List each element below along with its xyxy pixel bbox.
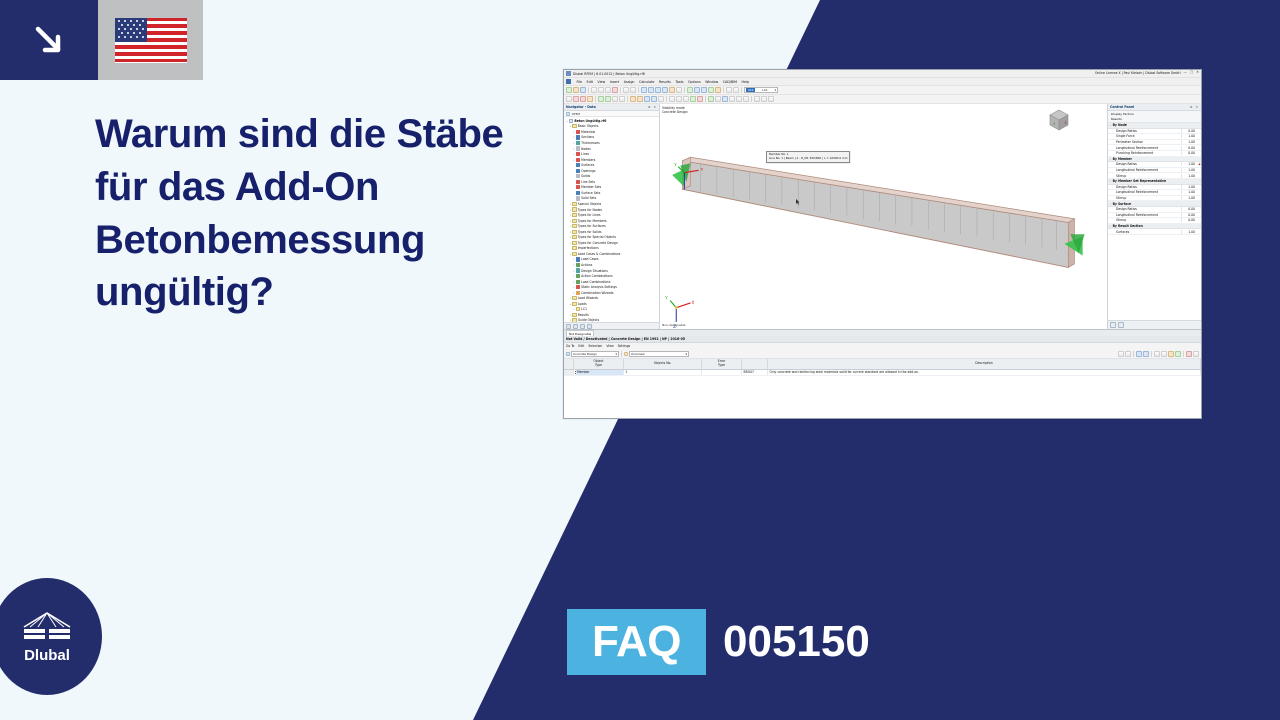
toolbar-icon-new[interactable] [566,87,572,93]
tree-node-icon [576,291,580,295]
toolbar-icon-save[interactable] [580,87,586,93]
navigator-tree-item-label: Imperfections [578,246,599,250]
toolbar2-icon-material[interactable] [619,96,625,102]
control-panel-row-value[interactable]: 0.00 [1181,151,1198,155]
menu-tools[interactable]: Tools [675,80,683,84]
control-panel-row-value[interactable]: 0.00 [1181,146,1198,150]
table-view-combo[interactable]: Overview ▾ [629,351,689,357]
tree-node-icon [576,280,580,284]
faq-badge: FAQ [567,609,706,675]
control-panel-row-marker: ◆ [1198,162,1201,166]
navigator-tree-item-label: Types for Nodes [578,208,602,212]
navigator-tree-item-label: Solid Sets [581,196,596,200]
menu-results[interactable]: Results [659,80,671,84]
maximize-button[interactable]: □ [1190,71,1193,74]
toolbar-icon-table[interactable] [715,87,721,93]
navigator-tree-item-label: Combination Wizards [581,291,613,295]
chevron-down-icon[interactable]: ▾ [775,88,776,92]
chevron-right-icon[interactable]: › [1110,157,1111,161]
navigator-tree-item-label: Design Situations [581,269,608,273]
table-icon-export[interactable] [1168,351,1174,357]
navigator-tree-item-label: Solids [581,174,590,178]
grid-header-errorcode-spacer [742,359,768,369]
toolbar-icon-view4[interactable] [662,87,668,93]
arrow-down-right-icon [0,0,98,80]
table-menu-view[interactable]: View [606,344,613,348]
control-panel-header-buttons[interactable]: ⚙ ✕ [1190,105,1199,109]
navigator-tree-item-label: Load Combinations [581,280,610,284]
chevron-right-icon[interactable]: › [1110,179,1111,183]
table-icon-settings[interactable] [1193,351,1199,357]
toolbar2-icon-loadsurface[interactable] [651,96,657,102]
svg-text:X: X [691,300,694,306]
toolbar2-icon-grid3[interactable] [683,96,689,102]
folder-icon [572,313,576,317]
control-panel-group-title: By Surface [1113,202,1132,206]
table-panel-title-bar: Not Valid / Deactivated | Concrete Desig… [564,336,1201,343]
navigator-tree: ⌄Beton Ungültig.rf6⌄Basic Objects›Materi… [564,117,659,322]
folder-icon [572,213,576,217]
app-title: Dlubal RFEM | 6.01.0012 | Beton Ungültig… [573,72,645,76]
folder-icon [572,252,576,256]
navigator-tree-item-label: Lines [581,152,589,156]
svg-text:-Y: -Y [1053,122,1056,126]
navigator-footer [564,322,659,329]
navigator-tree-item-label: Surfaces [581,163,594,167]
toolbar2-icon-rotate[interactable] [708,96,714,102]
menu-assign[interactable]: Assign [624,80,635,84]
toolbar-icon-copy[interactable] [598,87,604,93]
dlubal-logo-text: Dlubal [24,647,70,664]
tree-node-icon [576,174,580,178]
main-toolbar: ULS LC1 ▾ [564,86,1201,95]
license-info: Online License X | Paul Kieloch | Dlubal… [1095,71,1181,75]
table-module-combo-value: Concrete Design [573,352,597,356]
minimize-button[interactable]: — [1184,71,1187,74]
app-body: Navigator - Data ⚙ ✕ RFEM ⌄Beton Ungülti… [564,104,1201,329]
control-panel-row-value[interactable]: 0.00 [1181,207,1198,211]
menu-cadbim[interactable]: CAD/BIM [723,80,737,84]
control-panel-row-value[interactable]: 1.00 [1181,185,1198,189]
beam-model-graphic: x y X Y Z [660,104,1107,329]
chevron-down-icon[interactable]: ▾ [616,352,617,356]
grid-header-objects-no: Objects No. [624,359,702,369]
navigator-tree-item-label: Loads [578,302,587,306]
folder-icon [572,302,576,306]
dlubal-bridge-icon [20,610,74,644]
tree-node-icon [576,130,580,134]
grid-header-error-type: Error Type [702,359,742,369]
control-panel-row-value[interactable]: 1.00 [1181,196,1198,200]
tree-node-icon [576,185,580,189]
navigator-tree-item-label: Sections [581,135,594,139]
navigator-tree-item-label: Nodes [581,147,591,151]
mouse-cursor-icon [796,199,800,205]
toolbar2-icon-loadline[interactable] [644,96,650,102]
folder-icon [572,246,576,250]
toolbar2-icon-extra3[interactable] [768,96,774,102]
toolbar2-icon-node[interactable] [566,96,572,102]
toolbar-icon-results[interactable] [694,87,700,93]
toolbar-icon-measure[interactable] [676,87,682,93]
tree-node-icon [576,158,580,162]
row-object-type[interactable]: Member [574,370,624,375]
table-menu-edit[interactable]: Edit [578,344,584,348]
table-row[interactable]: Member 1 BRG07 Only concrete and reinfor… [564,370,1201,376]
navigator-tree-item-label: LC1 [581,307,587,311]
control-panel-row-label: Design Ratios [1116,162,1181,166]
control-panel-footer-btn-filter[interactable] [1118,322,1124,328]
rfem-application-window: Dlubal RFEM | 6.01.0012 | Beton Ungültig… [563,69,1202,419]
table-menu-selection[interactable]: Selection [588,344,602,348]
navigator-footer-btn-results[interactable] [587,324,592,329]
chevron-right-icon[interactable]: › [1110,224,1111,228]
folder-icon [572,224,576,228]
load-case-combo-value: LC1 [762,88,767,92]
navigator-panel: Navigator - Data ⚙ ✕ RFEM ⌄Beton Ungülti… [564,104,660,329]
control-panel-row-value[interactable]: 0.00 [1181,129,1198,133]
toolbar-icon-loads[interactable] [708,87,714,93]
toolbar-icon-calc[interactable] [687,87,693,93]
row-error-type-spacer [702,370,742,375]
control-panel-subtitle: Display Factors Results [1108,111,1201,122]
navigator-tab-rfem[interactable]: RFEM [572,112,580,116]
toolbar2-icon-imperfection[interactable] [658,96,664,102]
navigator-tree-item-label: Thicknesses [581,141,600,145]
language-flag-tile[interactable] [98,0,203,80]
member-tooltip-line2: Line No. 1 | Beam | 2 - R_M1 300/800 | L… [769,157,847,161]
tree-node-icon [576,180,580,184]
toolbar-icon-view2[interactable] [648,87,654,93]
control-panel-row-label: Longitudinal Reinforcement [1116,190,1181,194]
folder-icon [572,207,576,211]
toolbar2-icon-wireframe[interactable] [729,96,735,102]
navigator-tree-item-label: Beton Ungültig.rf6 [574,119,606,123]
navigator-header: Navigator - Data ⚙ ✕ [564,104,659,111]
svg-text:Y: Y [664,295,668,301]
navigator-title: Navigator - Data [566,105,596,109]
grid-header-rownum [564,359,574,369]
menu-window[interactable]: Window [705,80,718,84]
toolbar2-icon-member[interactable] [580,96,586,102]
control-panel-row-value[interactable]: 1.00 [1181,134,1198,138]
tree-node-icon [576,135,580,139]
control-panel-row-value[interactable]: 1.00 [1181,140,1198,144]
navigator-tree-item-label: Surface Sets [581,191,600,195]
table-icon-columns[interactable] [1154,351,1160,357]
tree-node-icon [576,274,580,278]
navigator-tree-item-label: Basic Objects [578,124,599,128]
menu-view[interactable]: View [597,80,605,84]
table-icon-print[interactable] [1175,351,1181,357]
toolbar2-icon-grid2[interactable] [676,96,682,102]
table-menu-settings[interactable]: Settings [618,344,631,348]
navigator-tree-item-label: Load Cases & Combinations [578,252,621,256]
table-menu-goto[interactable]: Go To [566,344,574,348]
us-flag-icon [115,18,187,63]
tree-node-icon [576,141,580,145]
results-grid-header: Object Type Objects No. Error Type Descr… [564,359,1201,370]
control-panel-row-label: Stirrup [1116,218,1181,222]
tree-node-icon [576,263,580,267]
toolbar2-icon-surface[interactable] [587,96,593,102]
navigator-tree-item-label: Member Sets [581,185,601,189]
control-panel-row-label: Design Ratios [1116,129,1181,133]
chevron-right-icon[interactable]: › [1110,123,1111,127]
control-panel-title: Control Panel [1110,105,1134,109]
control-panel-group-title: By Member [1113,157,1132,161]
control-panel-row-label: Longitudinal Reinforcement [1116,213,1181,217]
control-panel-footer-btn-factors[interactable] [1110,322,1116,328]
toolbar2-icon-loadforce[interactable] [630,96,636,102]
control-panel-row[interactable]: Surfaces1.00 [1108,229,1201,235]
table-icon-sort[interactable] [1143,351,1149,357]
control-panel-row-label: Design Ratios [1116,207,1181,211]
control-panel-row-value[interactable]: 1.00 [1181,162,1198,166]
row-description: Only concrete and reinforcing steel mate… [768,370,1201,375]
toolbar2-icon-extra2[interactable] [761,96,767,102]
table-icon-zoom-out[interactable] [1125,351,1131,357]
control-panel-row-label: Longitudinal Reinforcement [1116,146,1181,150]
toolbar2-icon-hinge[interactable] [605,96,611,102]
navigator-footer-btn-data[interactable] [566,324,571,329]
navigator-tree-item-label: Types for Concrete Design [578,241,618,245]
navigator-footer-btn-display[interactable] [573,324,578,329]
navigator-tree-item-label: Members [581,158,595,162]
toolbar-icon-render[interactable] [669,87,675,93]
tree-node-icon [576,191,580,195]
close-button[interactable]: ✕ [1196,71,1199,74]
table-toolbar: Concrete Design ▾ Overview ▾ [564,350,1201,359]
control-panel-row-label: Design Ratios [1116,185,1181,189]
svg-text:y: y [674,162,677,167]
folder-icon [572,230,576,234]
work-area: Visibility mode Concrete Design [660,104,1107,329]
control-panel-row-label: Single Force [1116,134,1181,138]
menu-edit[interactable]: Edit [587,80,593,84]
app-menu-icon[interactable] [566,79,571,84]
chevron-down-icon[interactable]: ▾ [686,352,687,356]
tree-node-icon [576,285,580,289]
menu-options[interactable]: Options [688,80,701,84]
table-icon-zoom-in[interactable] [1118,351,1124,357]
navigator-tree-item-label: Static Analysis Settings [581,285,617,289]
grid-header-description: Description [768,359,1201,369]
results-grid[interactable]: Object Type Objects No. Error Type Descr… [564,359,1201,420]
results-table-panel: Not Designable Not Valid / Deactivated |… [564,329,1201,419]
row-error-code: BRG07 [742,370,768,375]
tree-node-icon [576,152,580,156]
table-overview-icon [624,352,628,356]
navigator-tree-item-label: Types for Special Objects [578,235,616,239]
menu-calculate[interactable]: Calculate [639,80,654,84]
control-panel-row-label: Surfaces [1116,230,1181,234]
control-panel-row-label: Punching Reinforcement [1116,151,1181,155]
app-icon [566,71,571,76]
navigator-tree-item-label: Results [578,313,589,317]
folder-icon [576,307,580,311]
viewport-footer-label: Non-designable [662,323,685,327]
tree-node-icon [576,169,580,173]
toolbar-icon-undo[interactable] [623,87,629,93]
navigator-tree-item-label: Actions [581,263,592,267]
toolbar2-icon-line[interactable] [573,96,579,102]
model-viewport[interactable]: Visibility mode Concrete Design [660,104,1107,329]
control-panel-group-title: By Result Section [1113,224,1143,228]
navigator-tree-item-label: Special Objects [578,202,601,206]
navigator-tree-item-label: Materials [581,130,595,134]
navigator-footer-btn-views[interactable] [580,324,585,329]
navigator-tree-item-label: Line Sets [581,180,595,184]
table-icon-rows[interactable] [1161,351,1167,357]
menu-file[interactable]: File [577,80,583,84]
table-icon-filter[interactable] [1136,351,1142,357]
folder-icon [572,296,576,300]
navigator-tree-item-label: Types for Lines [578,213,601,217]
member-tooltip: Member No. 1 Line No. 1 | Beam | 2 - R_M… [766,151,850,163]
toolbar-icon-paste[interactable] [605,87,611,93]
control-panel-subtitle-line2: Results [1111,117,1198,122]
control-panel-row-value[interactable]: 1.00 [1181,230,1198,234]
control-panel-row-value[interactable]: 0.00 [1181,218,1198,222]
toolbar-icon-view3[interactable] [655,87,661,93]
toolbar2-icon-support[interactable] [598,96,604,102]
navigator-tree-item-label: Types for Members [578,219,607,223]
toolbar2-icon-grid5[interactable] [697,96,703,102]
tree-node-icon [569,119,573,123]
toolbar-icon-sel1[interactable] [726,87,732,93]
control-panel-row-label: Stirrup [1116,174,1181,178]
toolbar2-icon-extra1[interactable] [754,96,760,102]
table-module-icon [566,352,570,356]
load-case-combo[interactable]: ULS LC1 ▾ [744,87,778,93]
toolbar2-icon-grid4[interactable] [690,96,696,102]
toolbar-icon-sel2[interactable] [733,87,739,93]
control-panel-header: Control Panel ⚙ ✕ [1108,104,1201,111]
control-panel-row-label: Stirrup [1116,196,1181,200]
toolbar2-icon-zoomfit[interactable] [722,96,728,102]
navigator-tree-item-label: Openings [581,169,595,173]
toolbar2-icon-section[interactable] [612,96,618,102]
control-panel-row-value[interactable]: 0.00 [1181,213,1198,217]
chevron-right-icon[interactable]: › [1110,202,1111,206]
folder-icon [572,241,576,245]
tree-node-icon [576,146,580,150]
toolbar-icon-deform[interactable] [701,87,707,93]
view-cube[interactable]: -Y X [1047,108,1071,132]
toolbar2-icon-loadmoment[interactable] [637,96,643,102]
toolbar-icon-cut[interactable] [591,87,597,93]
navigator-tree-item-label: Types for Surfaces [578,224,606,228]
folder-icon [572,124,576,128]
menu-help[interactable]: Help [741,80,749,84]
table-view-combo-value: Overview [631,352,645,356]
table-module-combo[interactable]: Concrete Design ▾ [571,351,619,357]
control-panel-row-value[interactable]: 1.00 [1181,168,1198,172]
menu-bar: File Edit View Insert Assign Calculate R… [564,78,1201,86]
toolbar2-icon-shade[interactable] [736,96,742,102]
grid-header-object-type: Object Type [574,359,624,369]
row-number [564,370,574,375]
table-panel-title: Not Valid / Deactivated | Concrete Desig… [566,337,685,341]
navigator-header-buttons[interactable]: ⚙ ✕ [648,105,657,109]
secondary-toolbar [564,95,1201,104]
folder-icon [572,219,576,223]
toolbar-icon-print[interactable] [612,87,618,93]
tree-node-icon [576,196,580,200]
tree-node-icon [576,163,580,167]
control-panel-footer [1108,320,1201,329]
toolbar2-icon-pan[interactable] [715,96,721,102]
app-title-bar: Dlubal RFEM | 6.01.0012 | Beton Ungültig… [564,70,1201,78]
control-panel-list: ›By NodeDesign Ratios0.00Single Force1.0… [1108,122,1201,320]
control-panel-row-value[interactable]: 1.00 [1181,174,1198,178]
load-case-combo-tag: ULS [746,88,755,92]
table-icon-report[interactable] [1186,351,1192,357]
control-panel-group-title: By Member Set Representative [1113,179,1167,183]
title-bar-right: Online License X | Paul Kieloch | Dlubal… [1095,71,1199,75]
control-panel-row-label: Longitudinal Reinforcement [1116,168,1181,172]
control-panel-group-title: By Node [1113,123,1127,127]
navigator-tree-item-label: Load Wizards [578,296,598,300]
control-panel-row-label: Perimeter Section [1116,140,1181,144]
folder-icon [572,235,576,239]
tree-node-icon [576,257,580,261]
menu-insert[interactable]: Insert [610,80,619,84]
navigator-tab-icon[interactable] [566,112,570,116]
navigator-tree-item-label: Load Cases [581,257,598,261]
toolbar2-icon-grid1[interactable] [669,96,675,102]
page-title: Warum sind die Stäbe für das Add-On Beto… [95,108,565,319]
faq-number: 005150 [723,609,870,675]
toolbar2-icon-transparent[interactable] [743,96,749,102]
folder-icon [572,202,576,206]
navigator-tree-item-label: Action Combinations [581,274,612,278]
control-panel: Control Panel ⚙ ✕ Display Factors Result… [1107,104,1201,329]
toolbar-icon-redo[interactable] [630,87,636,93]
toolbar-icon-view1[interactable] [641,87,647,93]
control-panel-row-value[interactable]: 1.00 [1181,190,1198,194]
toolbar-icon-open[interactable] [573,87,579,93]
navigator-tree-item-label: Types for Solids [578,230,602,234]
tree-node-icon [576,268,580,272]
faq-badge-label: FAQ [592,617,681,667]
svg-text:x: x [701,167,704,172]
row-objects-no[interactable]: 1 [624,370,702,375]
